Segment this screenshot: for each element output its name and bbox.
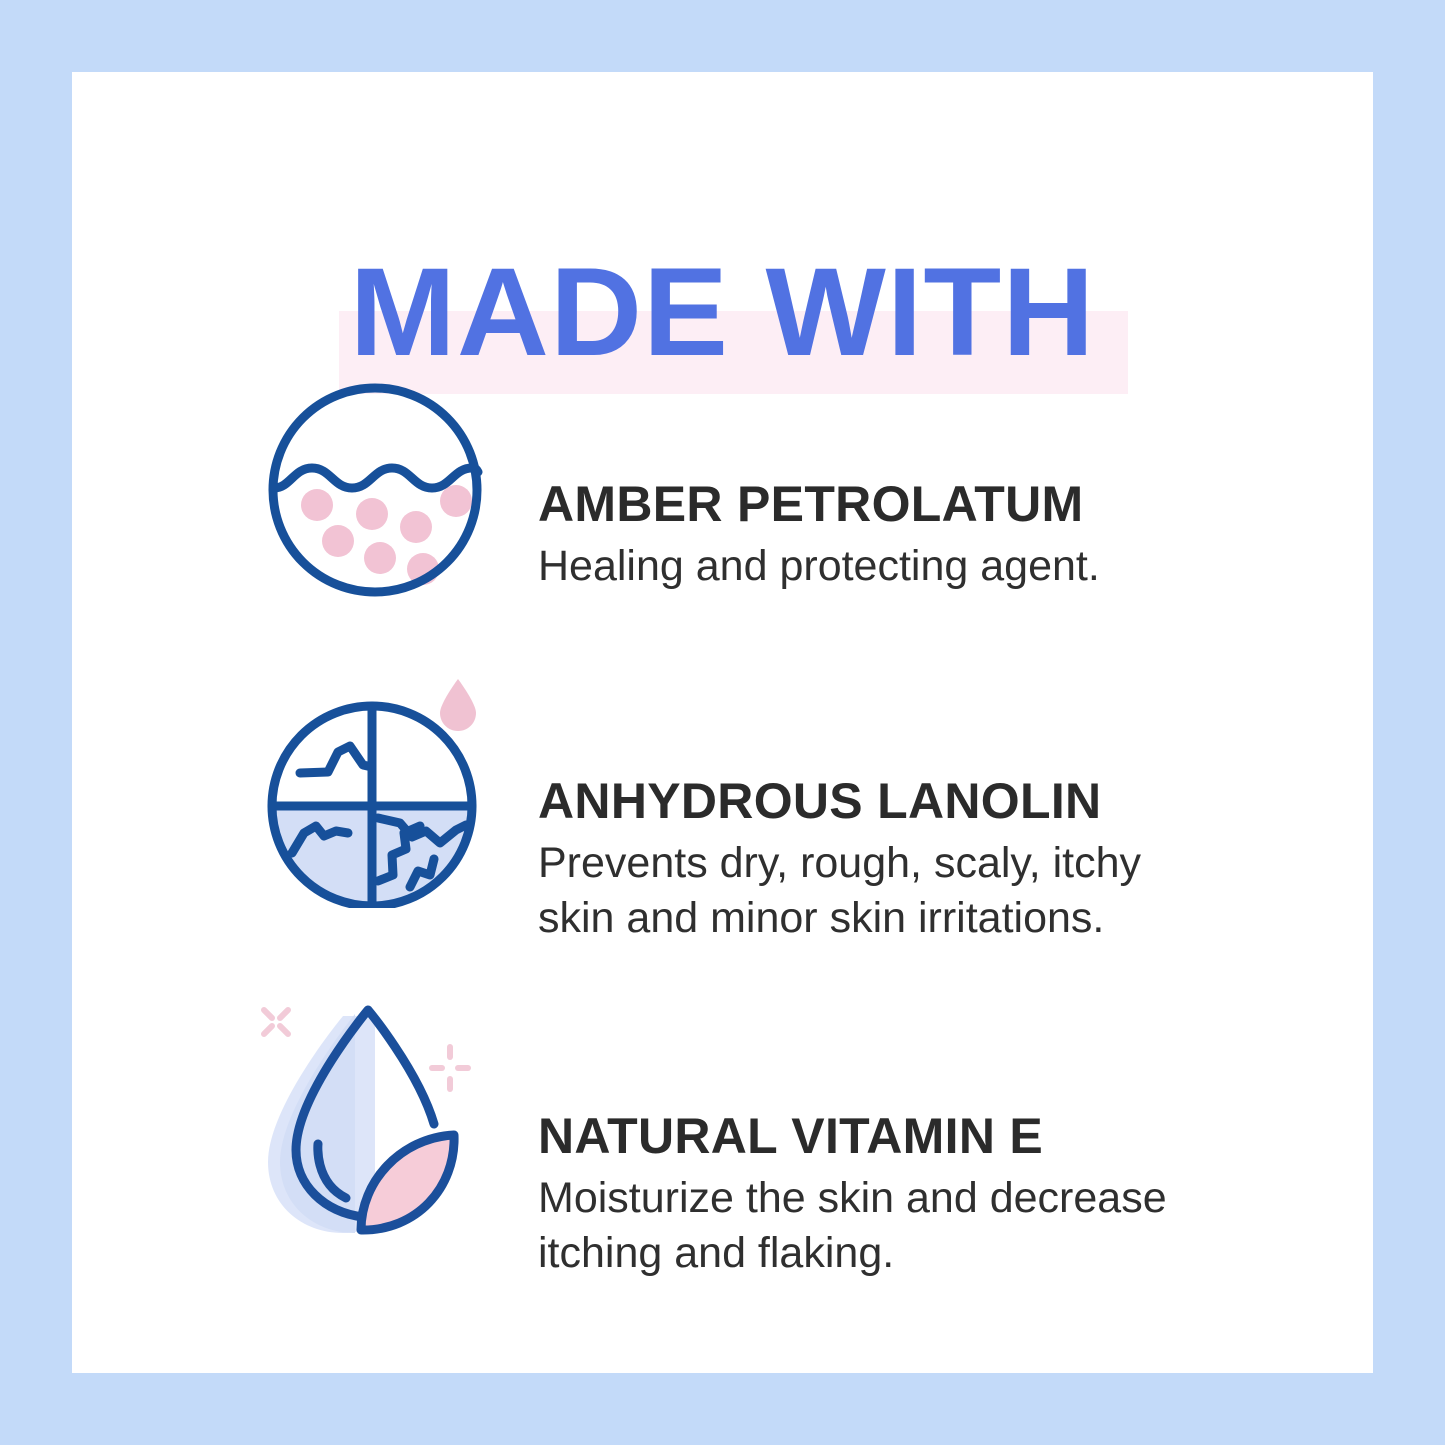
ingredient-name: AMBER PETROLATUM <box>538 475 1310 533</box>
ingredient-row-amber-petrolatum: AMBER PETROLATUM Healing and protecting … <box>250 375 1310 605</box>
cracked-skin-circle-droplet-icon <box>260 673 490 908</box>
icon-cell <box>250 673 500 908</box>
page-title-block: MADE WITH <box>72 172 1373 402</box>
ingredient-row-anhydrous-lanolin: ANHYDROUS LANOLIN Prevents dry, rough, s… <box>250 673 1310 946</box>
droplet-leaf-sparkle-icon <box>258 1002 493 1247</box>
icon-cell <box>250 375 500 605</box>
ingredient-text: ANHYDROUS LANOLIN Prevents dry, rough, s… <box>500 673 1310 946</box>
content-card: MADE WITH <box>72 72 1373 1373</box>
infographic-poster: MADE WITH <box>0 0 1445 1445</box>
ingredient-text: NATURAL VITAMIN E Moisturize the skin an… <box>500 1002 1310 1281</box>
ingredient-description: Moisturize the skin and decrease itching… <box>538 1171 1198 1281</box>
icon-cell <box>250 1002 500 1247</box>
page-title: MADE WITH <box>59 250 1386 375</box>
ingredient-text: AMBER PETROLATUM Healing and protecting … <box>500 375 1310 594</box>
ingredient-row-natural-vitamin-e: NATURAL VITAMIN E Moisturize the skin an… <box>250 1002 1310 1281</box>
ingredient-description: Healing and protecting agent. <box>538 539 1198 594</box>
circle-wave-dots-icon <box>260 375 490 605</box>
ingredient-name: ANHYDROUS LANOLIN <box>538 772 1310 830</box>
ingredient-description: Prevents dry, rough, scaly, itchy skin a… <box>538 836 1198 946</box>
ingredient-name: NATURAL VITAMIN E <box>538 1107 1310 1165</box>
